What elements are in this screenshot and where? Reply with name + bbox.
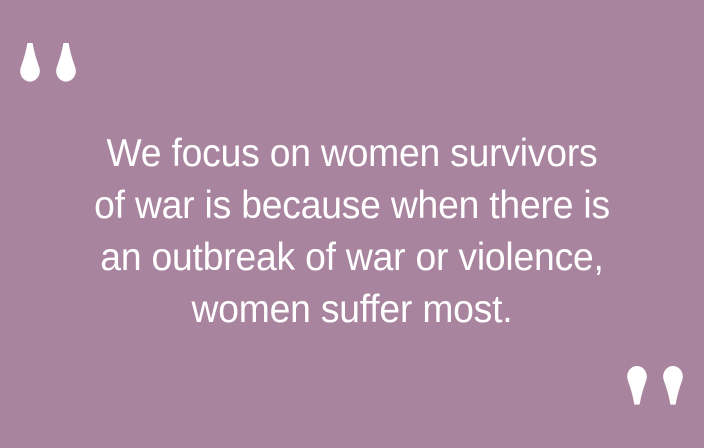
quote-line: of war is because when there is xyxy=(39,180,665,232)
quote-line: an outbreak of war or violence, xyxy=(39,232,665,284)
quote-mark-close-glyph-2 xyxy=(662,366,684,405)
quote-card: We focus on women survivors of war is be… xyxy=(0,0,704,448)
quote-mark-open-icon xyxy=(19,43,77,82)
quote-mark-close-icon xyxy=(626,366,684,405)
quote-line: women suffer most. xyxy=(39,284,665,336)
quote-text-block: We focus on women survivors of war is be… xyxy=(0,128,704,336)
quote-mark-close-glyph-1 xyxy=(626,366,648,405)
quote-mark-open-glyph-2 xyxy=(55,43,77,82)
quote-line: We focus on women survivors xyxy=(39,128,665,180)
quote-mark-open-glyph-1 xyxy=(19,43,41,82)
